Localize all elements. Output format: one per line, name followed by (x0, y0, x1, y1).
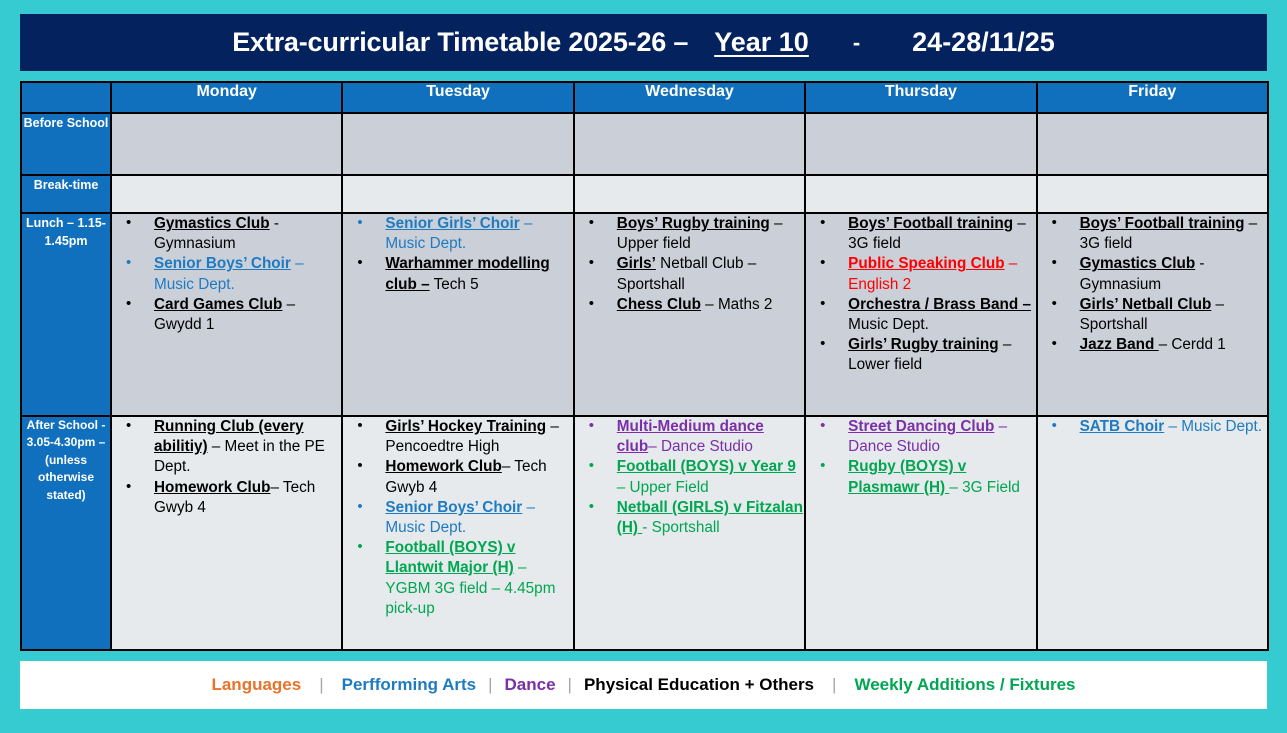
activity-location: – Music Dept. (1164, 418, 1262, 435)
legend-item-dance: Dance (503, 675, 558, 695)
activity-item[interactable]: SATB Choir – Music Dept. (1038, 417, 1267, 437)
activity-name: Homework Club (154, 479, 270, 496)
activity-list: Multi-Medium dance club– Dance StudioFoo… (575, 417, 804, 538)
page-title: Extra-curricular Timetable 2025-26 – (232, 27, 688, 58)
cell-lunch-wednesday[interactable]: Boys’ Rugby training – Upper fieldGirls’… (574, 213, 805, 416)
activity-item[interactable]: Girls’ Netball Club – Sportshall (1038, 295, 1267, 335)
activity-item[interactable]: Card Games Club – Gwydd 1 (112, 295, 341, 335)
activity-item[interactable]: Boys’ Rugby training – Upper field (575, 214, 804, 254)
activity-name: Girls’ (617, 255, 656, 272)
legend-separator: | (558, 675, 582, 695)
legend-bar: Languages|Perfforming Arts|Dance|Physica… (20, 661, 1267, 709)
activity-item[interactable]: Running Club (every abilitiy) – Meet in … (112, 417, 341, 478)
legend-item-languages: Languages (209, 675, 303, 695)
activity-name: Football (BOYS) v Year 9 (617, 458, 796, 475)
activity-name: Boys’ Football training (1080, 215, 1245, 232)
day-header-wednesday: Wednesday (574, 82, 805, 113)
timetable-body: Before SchoolBreak-timeLunch – 1.15-1.45… (21, 113, 1268, 650)
activity-name: Jazz Band (1080, 336, 1159, 353)
activity-list: SATB Choir – Music Dept. (1038, 417, 1267, 437)
activity-location: – Upper Field (617, 479, 709, 496)
activity-list: Street Dancing Club – Dance StudioRugby … (806, 417, 1035, 498)
activity-item[interactable]: Public Speaking Club – English 2 (806, 254, 1035, 294)
activity-name: Orchestra / Brass Band – (848, 296, 1031, 313)
day-header-thursday: Thursday (805, 82, 1036, 113)
cell-after-school-monday[interactable]: Running Club (every abilitiy) – Meet in … (111, 416, 342, 650)
activity-list: Gymastics Club - GymnasiumSenior Boys’ C… (112, 214, 341, 335)
activity-item[interactable]: Girls’ Rugby training – Lower field (806, 335, 1035, 375)
activity-location: - Sportshall (642, 519, 719, 536)
cell-before-school-friday[interactable] (1037, 113, 1268, 175)
cell-after-school-tuesday[interactable]: Girls’ Hockey Training – Pencoedtre High… (342, 416, 573, 650)
activity-item[interactable]: Street Dancing Club – Dance Studio (806, 417, 1035, 457)
activity-name: Girls’ Netball Club (1080, 296, 1212, 313)
activity-name: Public Speaking Club (848, 255, 1004, 272)
activity-item[interactable]: Boys’ Football training – 3G field (1038, 214, 1267, 254)
legend-separator: | (816, 675, 852, 695)
activity-item[interactable]: Rugby (BOYS) v Plasmawr (H) – 3G Field (806, 457, 1035, 497)
cell-break-time-friday[interactable] (1037, 175, 1268, 213)
cell-after-school-wednesday[interactable]: Multi-Medium dance club– Dance StudioFoo… (574, 416, 805, 650)
cell-after-school-thursday[interactable]: Street Dancing Club – Dance StudioRugby … (805, 416, 1036, 650)
activity-item[interactable]: Warhammer modelling club – Tech 5 (343, 254, 572, 294)
cell-lunch-tuesday[interactable]: Senior Girls’ Choir – Music Dept.Warhamm… (342, 213, 573, 416)
activity-item[interactable]: Gymastics Club - Gymnasium (112, 214, 341, 254)
activity-item[interactable]: Multi-Medium dance club– Dance Studio (575, 417, 804, 457)
activity-name: Gymastics Club (154, 215, 270, 232)
activity-location: – 3G Field (949, 479, 1020, 496)
activity-item[interactable]: Senior Girls’ Choir – Music Dept. (343, 214, 572, 254)
activity-location: Tech 5 (430, 276, 479, 293)
timetable-row-before-school: Before School (21, 113, 1268, 175)
activity-list: Boys’ Football training – 3G fieldPublic… (806, 214, 1035, 376)
legend-separator: | (478, 675, 502, 695)
activity-name: Homework Club (385, 458, 501, 475)
cell-break-time-wednesday[interactable] (574, 175, 805, 213)
activity-item[interactable]: Senior Boys’ Choir – Music Dept. (343, 498, 572, 538)
cell-lunch-friday[interactable]: Boys’ Football training – 3G fieldGymast… (1037, 213, 1268, 416)
activity-item[interactable]: Homework Club– Tech Gwyb 4 (343, 457, 572, 497)
activity-name: Boys’ Rugby training (617, 215, 770, 232)
activity-name: Senior Boys’ Choir (385, 499, 522, 516)
legend-separator: | (303, 675, 339, 695)
activity-name: Senior Boys’ Choir (154, 255, 291, 272)
cell-lunch-thursday[interactable]: Boys’ Football training – 3G fieldPublic… (805, 213, 1036, 416)
activity-name: Girls’ Hockey Training (385, 418, 546, 435)
activity-name: Chess Club (617, 296, 701, 313)
activity-name: Boys’ Football training (848, 215, 1013, 232)
day-header-friday: Friday (1037, 82, 1268, 113)
timetable-header-row: Monday Tuesday Wednesday Thursday Friday (21, 82, 1268, 113)
activity-name: Senior Girls’ Choir (385, 215, 519, 232)
activity-list: Senior Girls’ Choir – Music Dept.Warhamm… (343, 214, 572, 295)
activity-name: Street Dancing Club (848, 418, 994, 435)
timetable: Monday Tuesday Wednesday Thursday Friday… (20, 81, 1269, 651)
page-title-bar: Extra-curricular Timetable 2025-26 – Yea… (20, 14, 1267, 71)
activity-item[interactable]: Football (BOYS) v Llantwit Major (H) – Y… (343, 538, 572, 619)
title-separator: - (853, 30, 860, 56)
timetable-row-break-time: Break-time (21, 175, 1268, 213)
activity-list: Running Club (every abilitiy) – Meet in … (112, 417, 341, 518)
legend-item-perfforming-arts: Perfforming Arts (340, 675, 478, 695)
row-label-lunch: Lunch – 1.15-1.45pm (21, 213, 111, 416)
year-group-label: Year 10 (714, 27, 809, 58)
legend-item-physical-education-others: Physical Education + Others (582, 675, 816, 695)
activity-item[interactable]: Gymastics Club - Gymnasium (1038, 254, 1267, 294)
activity-item[interactable]: Jazz Band – Cerdd 1 (1038, 335, 1267, 355)
timetable-row-after-school: After School - 3.05-4.30pm – (unless oth… (21, 416, 1268, 650)
activity-name: Football (BOYS) v Llantwit Major (H) (385, 539, 515, 576)
activity-item[interactable]: Girls’ Netball Club – Sportshall (575, 254, 804, 294)
activity-item[interactable]: Orchestra / Brass Band – Music Dept. (806, 295, 1035, 335)
cell-lunch-monday[interactable]: Gymastics Club - GymnasiumSenior Boys’ C… (111, 213, 342, 416)
cell-before-school-thursday[interactable] (805, 113, 1036, 175)
day-header-tuesday: Tuesday (342, 82, 573, 113)
activity-location: – Cerdd 1 (1159, 336, 1226, 353)
activity-item[interactable]: Boys’ Football training – 3G field (806, 214, 1035, 254)
activity-list: Girls’ Hockey Training – Pencoedtre High… (343, 417, 572, 619)
activity-location: – Dance Studio (648, 438, 753, 455)
activity-item[interactable]: Homework Club– Tech Gwyb 4 (112, 478, 341, 518)
cell-break-time-thursday[interactable] (805, 175, 1036, 213)
cell-before-school-monday[interactable] (111, 113, 342, 175)
activity-location: – Maths 2 (701, 296, 772, 313)
cell-before-school-tuesday[interactable] (342, 113, 573, 175)
activity-item[interactable]: Chess Club – Maths 2 (575, 295, 804, 315)
activity-name: SATB Choir (1080, 418, 1165, 435)
cell-break-time-monday[interactable] (111, 175, 342, 213)
cell-after-school-friday[interactable]: SATB Choir – Music Dept. (1037, 416, 1268, 650)
activity-name: Card Games Club (154, 296, 282, 313)
week-date-range: 24-28/11/25 (912, 27, 1055, 58)
day-header-monday: Monday (111, 82, 342, 113)
corner-cell (21, 82, 111, 113)
activity-name: Girls’ Rugby training (848, 336, 998, 353)
legend-item-weekly-additions-fixtures: Weekly Additions / Fixtures (852, 675, 1077, 695)
activity-item[interactable]: Senior Boys’ Choir – Music Dept. (112, 254, 341, 294)
row-label-after-school: After School - 3.05-4.30pm – (unless oth… (21, 416, 111, 650)
activity-item[interactable]: Girls’ Hockey Training – Pencoedtre High (343, 417, 572, 457)
timetable-row-lunch: Lunch – 1.15-1.45pmGymastics Club - Gymn… (21, 213, 1268, 416)
activity-location: Music Dept. (848, 316, 929, 333)
cell-before-school-wednesday[interactable] (574, 113, 805, 175)
row-label-break-time: Break-time (21, 175, 111, 213)
activity-item[interactable]: Netball (GIRLS) v Fitzalan (H) - Sportsh… (575, 498, 804, 538)
activity-list: Boys’ Rugby training – Upper fieldGirls’… (575, 214, 804, 315)
cell-break-time-tuesday[interactable] (342, 175, 573, 213)
row-label-before-school: Before School (21, 113, 111, 175)
activity-list: Boys’ Football training – 3G fieldGymast… (1038, 214, 1267, 355)
activity-name: Gymastics Club (1080, 255, 1196, 272)
activity-item[interactable]: Football (BOYS) v Year 9 – Upper Field (575, 457, 804, 497)
